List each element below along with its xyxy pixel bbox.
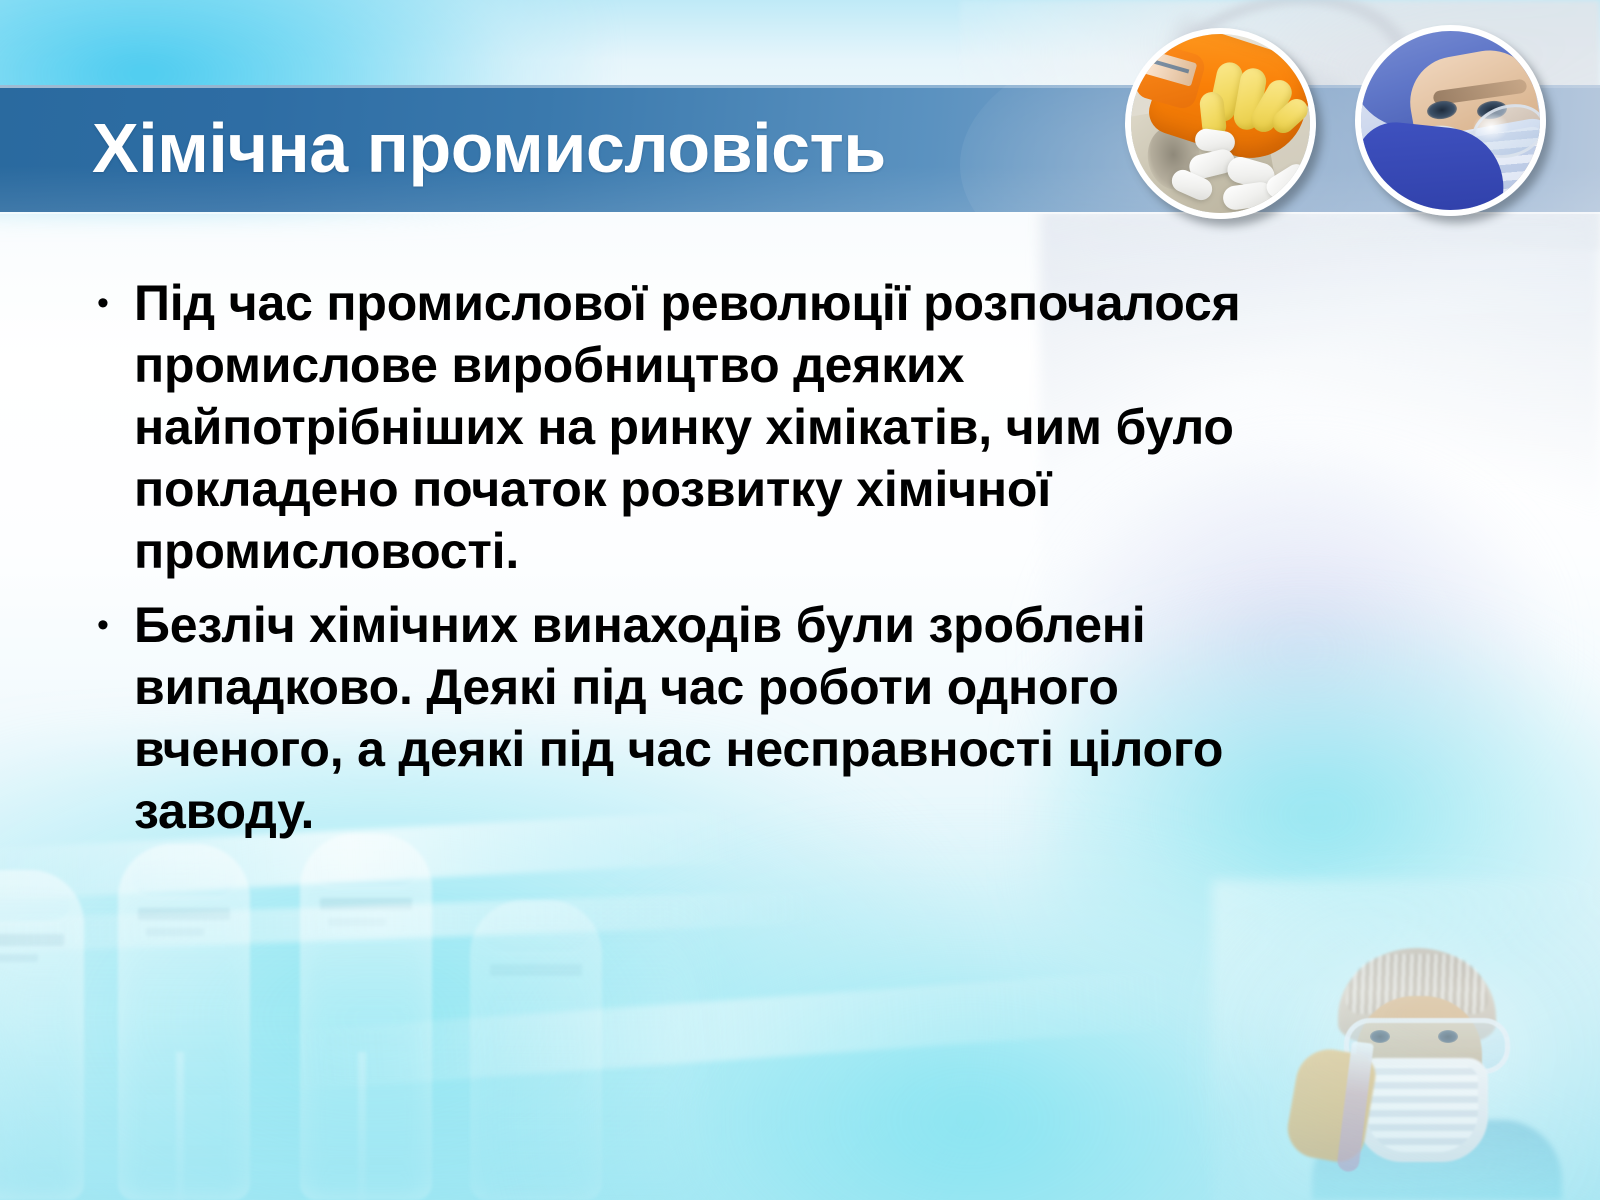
scientist-glass-overlay <box>1212 880 1600 1200</box>
bullet-text: Безліч хімічних винаходів були зроблені … <box>134 594 1314 842</box>
bullet-marker-icon: • <box>72 594 134 656</box>
lab-scientist-photo <box>1252 900 1582 1200</box>
bullet-marker-icon: • <box>72 272 134 334</box>
slide-title: Хімічна промисловість <box>92 96 886 200</box>
list-item: • Безліч хімічних винаходів були зроблен… <box>72 594 1332 842</box>
masked-doctor-photo <box>1355 25 1546 216</box>
pill-bottle-photo-image <box>1131 34 1310 213</box>
doctor-highlight <box>1473 113 1509 141</box>
bullet-text: Під час промислової революції розпочалос… <box>134 272 1314 582</box>
masked-doctor-photo-image <box>1361 31 1540 210</box>
slide-body: • Під час промислової революції розпочал… <box>72 272 1332 854</box>
list-item: • Під час промислової революції розпочал… <box>72 272 1332 582</box>
presentation-slide: Хімічна промисловість <box>0 0 1600 1200</box>
pill-bottle-photo <box>1125 28 1316 219</box>
